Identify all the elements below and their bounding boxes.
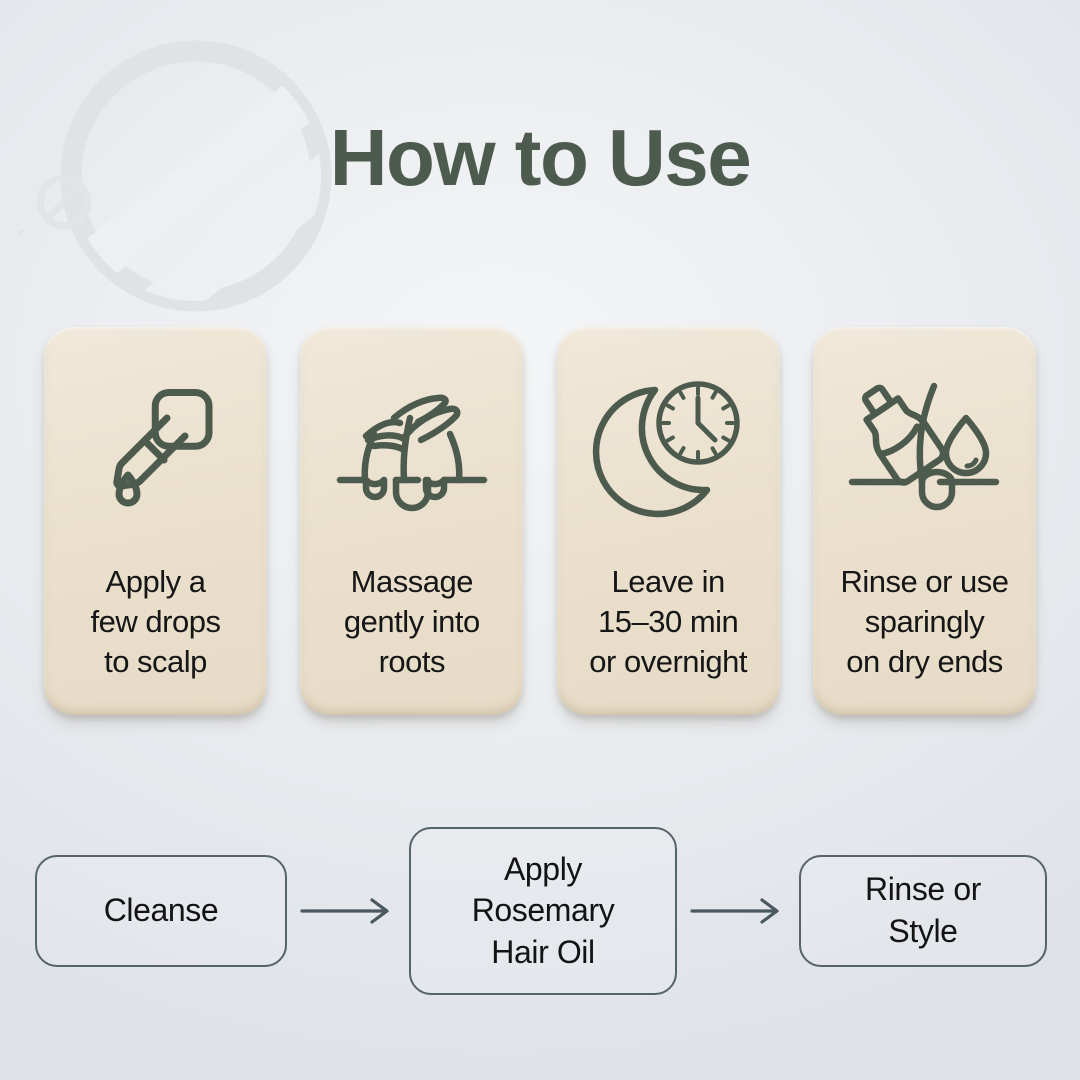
flow-step-apply-oil-label: Apply Rosemary Hair Oil	[472, 849, 615, 974]
step-card-2-label: Massage gently into roots	[309, 562, 515, 682]
step-card-4: Rinse or use sparingly on dry ends	[813, 327, 1036, 715]
step-card-1: Apply a few drops to scalp	[44, 327, 267, 715]
process-flow: Cleanse Apply Rosemary Hair Oil Rinse or…	[33, 826, 1047, 996]
step-card-3-label: Leave in 15–30 min or overnight	[565, 562, 771, 682]
step-card-4-label: Rinse or use sparingly on dry ends	[821, 562, 1027, 682]
flow-step-rinse-style[interactable]: Rinse or Style	[799, 855, 1047, 967]
step-card-2: Massage gently into roots	[300, 327, 523, 715]
dropper-icon	[76, 371, 236, 526]
step-card-3: Leave in 15–30 min or overnight	[557, 327, 780, 715]
flow-step-rinse-style-label: Rinse or Style	[865, 869, 981, 952]
arrow-right-icon-1	[287, 898, 409, 924]
bottle-follicle-drop-icon	[844, 371, 1004, 526]
steps-row: Apply a few drops to scalp	[44, 327, 1036, 719]
flow-step-cleanse-label: Cleanse	[104, 890, 219, 932]
hand-massage-follicles-icon	[332, 371, 492, 526]
page-title: How to Use	[0, 118, 1080, 198]
arrow-right-icon-2	[677, 898, 799, 924]
step-card-1-label: Apply a few drops to scalp	[53, 562, 259, 682]
flow-step-apply-oil[interactable]: Apply Rosemary Hair Oil	[409, 827, 677, 995]
flow-step-cleanse[interactable]: Cleanse	[35, 855, 287, 967]
moon-clock-icon	[588, 371, 748, 526]
